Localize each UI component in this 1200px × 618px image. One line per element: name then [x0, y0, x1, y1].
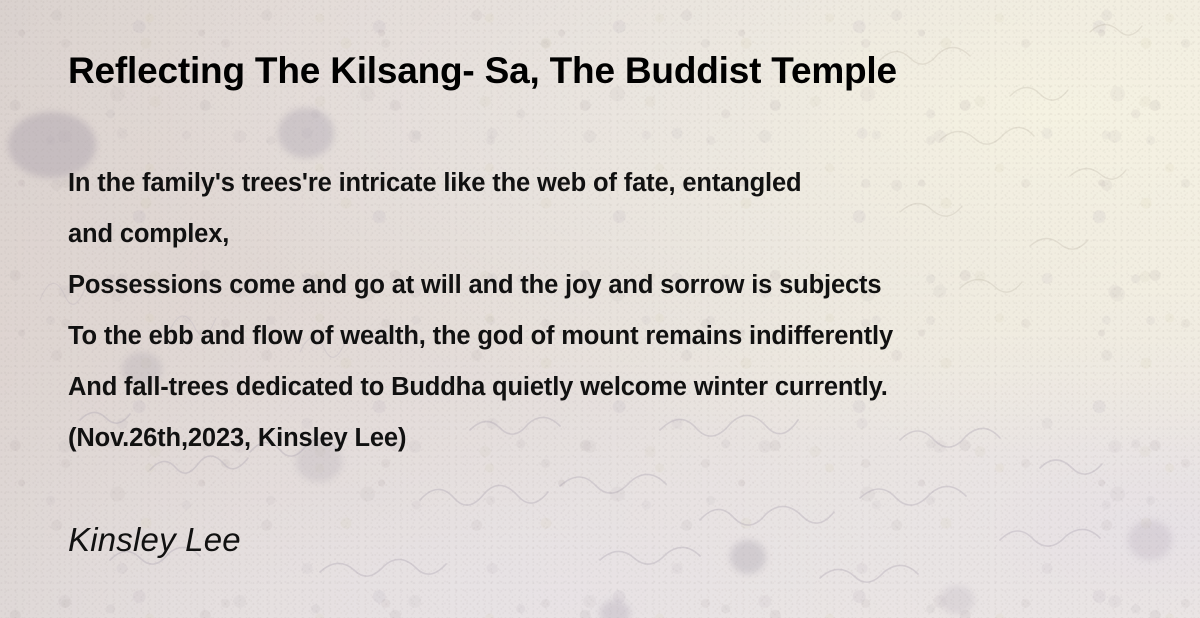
- author-signature: Kinsley Lee: [68, 521, 241, 559]
- poem-line-4: To the ebb and flow of wealth, the god o…: [68, 311, 893, 362]
- poem-line-1: In the family's trees're intricate like …: [68, 158, 893, 209]
- poem-line-5: And fall-trees dedicated to Buddha quiet…: [68, 362, 893, 413]
- poem-line-2: and complex,: [68, 209, 893, 260]
- poem-content: Reflecting The Kilsang- Sa, The Buddist …: [0, 0, 1200, 618]
- poem-body: In the family's trees're intricate like …: [68, 158, 893, 464]
- poem-card: Reflecting The Kilsang- Sa, The Buddist …: [0, 0, 1200, 618]
- poem-line-3: Possessions come and go at will and the …: [68, 260, 893, 311]
- poem-line-6: (Nov.26th,2023, Kinsley Lee): [68, 413, 893, 464]
- page-title: Reflecting The Kilsang- Sa, The Buddist …: [68, 50, 897, 92]
